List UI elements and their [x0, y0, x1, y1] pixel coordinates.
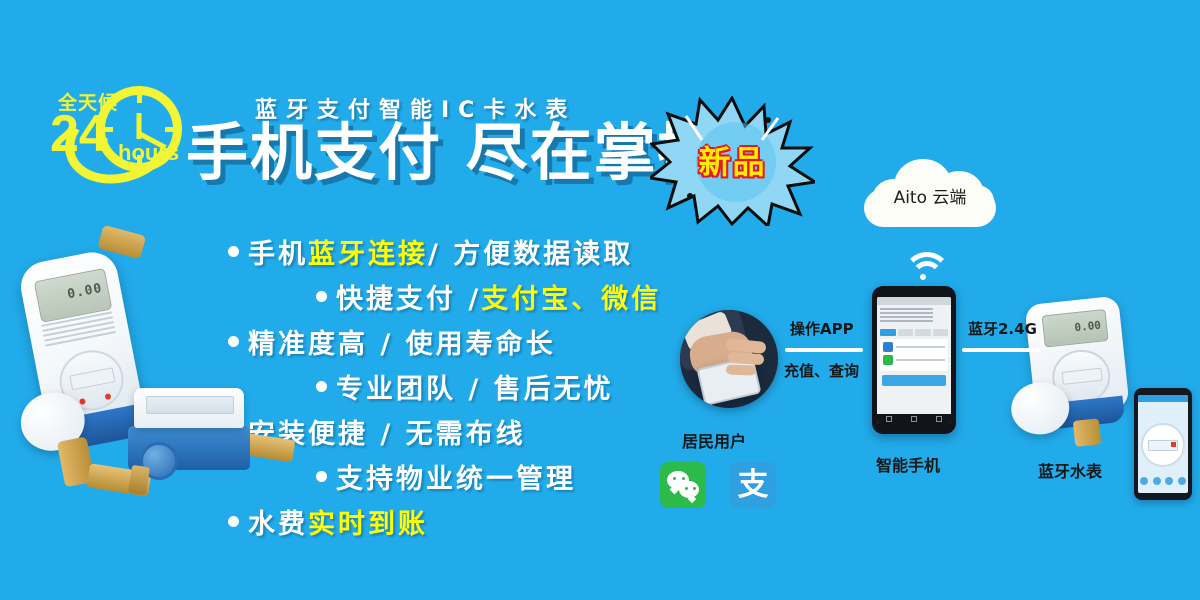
feature-item: 专业团队 / 售后无忧	[228, 367, 698, 406]
badge-unit: hours	[118, 140, 179, 166]
smartphone-mockup	[872, 286, 956, 434]
connector-line-phone-meter	[962, 348, 1040, 352]
bullet-dot-icon	[316, 471, 327, 482]
feature-prefix: 精准度高 / 使用寿命长	[248, 322, 556, 361]
bullet-dot-icon	[228, 516, 239, 527]
feature-item: 手机蓝牙连接 / 方便数据读取	[228, 232, 698, 271]
meter-lcd-value: 0.00	[66, 281, 104, 302]
brass-pipe-fitting	[97, 225, 146, 260]
feature-list: 手机蓝牙连接 / 方便数据读取 快捷支付 / 支付宝、微信 精准度高 / 使用寿…	[228, 232, 698, 547]
banner-canvas: 全天候 24 hours 蓝牙支付智能IC卡水表 手机支付 尽在掌握 新品 手机…	[0, 0, 1200, 600]
feature-prefix: 快捷支付 /	[336, 277, 481, 316]
bullet-dot-icon	[316, 381, 327, 392]
bullet-dot-icon	[228, 336, 239, 347]
label-bluetooth-24g: 蓝牙2.4G	[968, 318, 1037, 339]
new-product-badge: 新品	[650, 96, 815, 226]
meter-register	[1062, 368, 1103, 385]
app-info-block	[877, 305, 951, 327]
cloud-label: Aito 云端	[860, 183, 1000, 208]
label-resident-user: 居民用户	[682, 428, 746, 452]
meter-app-screen	[1138, 395, 1188, 493]
photo-finger	[726, 364, 756, 375]
app-confirm-button	[882, 375, 946, 386]
wifi-icon	[903, 248, 951, 284]
label-recharge-query: 充值、查询	[784, 360, 859, 381]
label-smartphone: 智能手机	[876, 452, 940, 476]
product-valve-control-water-meter	[88, 382, 288, 510]
meter-app-title-bar	[1138, 395, 1188, 402]
badge-number: 24	[50, 108, 108, 160]
alipay-icon: 支	[730, 462, 776, 508]
feature-item: 快捷支付 / 支付宝、微信	[228, 277, 698, 316]
feature-suffix: / 方便数据读取	[428, 232, 633, 271]
meter-red-indicator	[79, 398, 86, 405]
24-hours-badge: 全天候 24 hours	[46, 82, 186, 186]
payment-option-alipay	[883, 342, 945, 352]
meter-label-plate	[146, 396, 234, 414]
resident-user-photo	[680, 310, 778, 408]
clock-tick-right	[165, 127, 177, 132]
app-payment-card	[880, 339, 948, 371]
clock-tick-top	[137, 91, 142, 103]
meter-lcd-display: 0.00	[1042, 309, 1109, 348]
cloud-shape: Aito 云端	[860, 155, 1000, 233]
wechat-pay-icon	[660, 462, 706, 508]
android-nav-bar	[877, 414, 951, 423]
meter-white-cover	[134, 388, 244, 428]
label-bluetooth-water-meter: 蓝牙水表	[1038, 458, 1102, 482]
bullet-dot-icon	[316, 291, 327, 302]
feature-prefix: 支持物业统一管理	[336, 457, 576, 496]
label-operate-app: 操作APP	[790, 318, 854, 339]
new-product-label: 新品	[650, 137, 815, 183]
connector-line-user-phone	[785, 348, 863, 352]
feature-highlight: 实时到账	[308, 502, 428, 541]
feature-item: 安装便捷 / 无需布线	[228, 412, 698, 451]
feature-highlight: 蓝牙连接	[308, 232, 428, 271]
meter-app-toolbar	[1138, 477, 1188, 485]
meter-reading-dial	[1141, 423, 1185, 467]
meter-lcd-value: 0.00	[1074, 319, 1102, 335]
app-title-bar	[877, 297, 951, 305]
smartphone-screen	[877, 297, 951, 423]
bullet-dot-icon	[228, 246, 239, 257]
banner-headline: 手机支付 尽在掌握	[186, 120, 722, 185]
feature-item: 水费实时到账	[228, 502, 698, 541]
feature-item: 支持物业统一管理	[228, 457, 698, 496]
feature-highlight: 支付宝、微信	[481, 277, 661, 316]
meter-app-phone-mockup	[1134, 388, 1192, 500]
app-button-row	[877, 329, 951, 336]
feature-prefix: 手机	[248, 232, 308, 271]
brass-pipe-fitting	[1073, 418, 1102, 447]
feature-prefix: 专业团队 / 售后无忧	[336, 367, 614, 406]
feature-item: 精准度高 / 使用寿命长	[228, 322, 698, 361]
payment-option-wechat	[883, 355, 945, 365]
alipay-glyph: 支	[730, 466, 776, 504]
